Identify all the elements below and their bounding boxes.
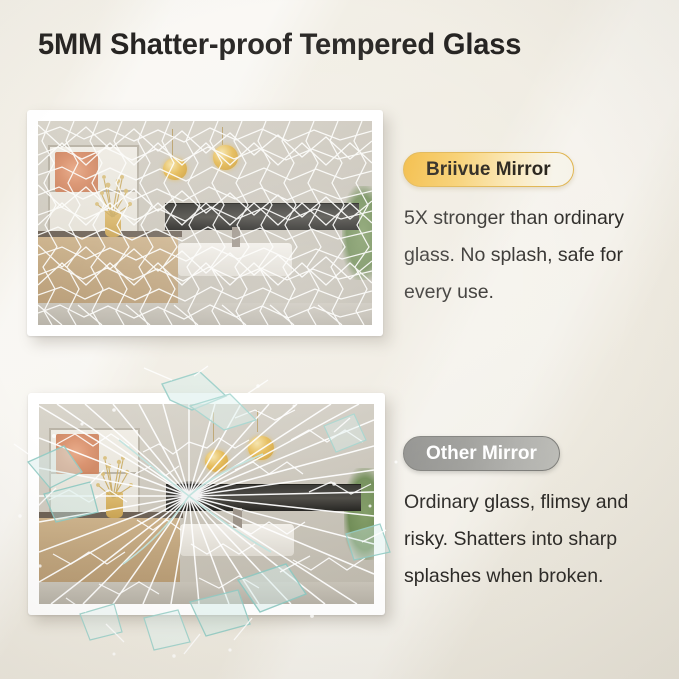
badge-other-label: Other Mirror xyxy=(426,443,537,465)
description-other: Ordinary glass, flimsy and risky. Shatte… xyxy=(404,484,666,595)
product-comparison-page: 5MM Shatter-proof Tempered Glass xyxy=(0,0,679,679)
shattered-glass-crack-pattern xyxy=(39,404,374,604)
description-briivue: 5X stronger than ordinary glass. No spla… xyxy=(404,200,666,311)
badge-briivue-mirror: Briivue Mirror xyxy=(403,152,574,187)
other-mirror-image xyxy=(28,393,385,615)
tempered-glass-crazing-pattern xyxy=(38,121,372,325)
briivue-mirror-image xyxy=(27,110,383,336)
page-title: 5MM Shatter-proof Tempered Glass xyxy=(38,28,639,62)
badge-briivue-label: Briivue Mirror xyxy=(426,159,551,181)
other-mirror-glass xyxy=(39,404,374,604)
briivue-mirror-glass xyxy=(38,121,372,325)
badge-other-mirror: Other Mirror xyxy=(403,436,560,471)
